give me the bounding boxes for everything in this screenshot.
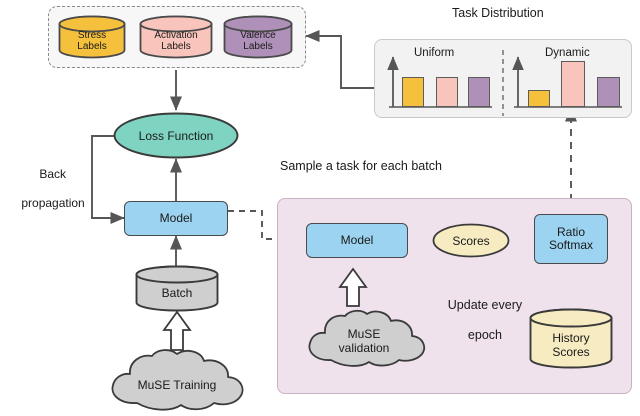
diagram-canvas: Stress Labels Activation Labels Valence … <box>0 0 640 414</box>
block-arrow-validation-to-model <box>340 269 366 306</box>
history-scores-line1: History <box>552 331 589 345</box>
update-line2: epoch <box>468 328 502 342</box>
update-line1: Update every <box>448 298 522 312</box>
history-scores-line2: Scores <box>552 345 589 359</box>
cloud-muse-validation[interactable]: MuSE validation <box>303 310 425 368</box>
muse-validation-line2: validation <box>339 341 390 355</box>
cylinder-history-scores[interactable]: History Scores <box>529 308 613 370</box>
muse-validation-line1: MuSE <box>348 327 381 341</box>
update-every-epoch-label: Update every epoch <box>418 283 538 358</box>
